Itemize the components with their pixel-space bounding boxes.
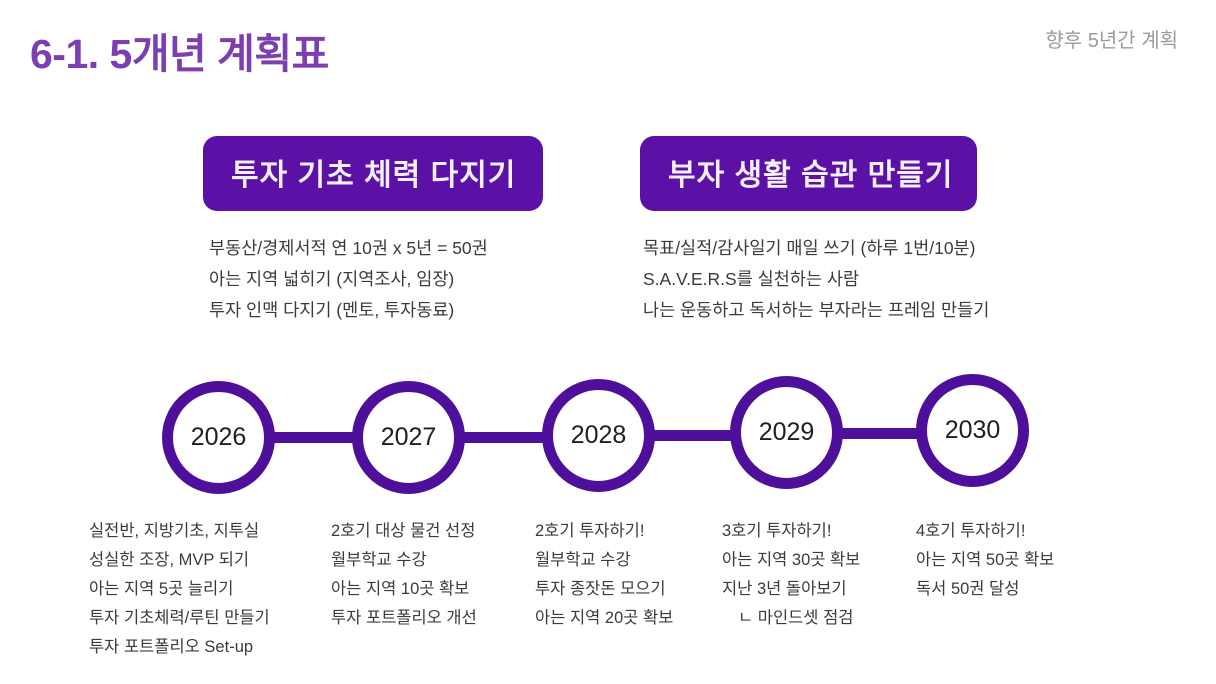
page-title: 6-1. 5개년 계획표 <box>30 20 329 80</box>
goal-line: 나는 운동하고 독서하는 부자라는 프레임 만들기 <box>643 295 989 326</box>
timeline-year-label: 2030 <box>945 416 1001 445</box>
year-task-line: 실전반, 지방기초, 지투실 <box>89 517 270 546</box>
year-task-line: 아는 지역 50곳 확보 <box>916 546 1054 575</box>
timeline-node-2030: 2030 <box>916 374 1029 487</box>
timeline-node-2028: 2028 <box>542 379 655 492</box>
goal-line: 아는 지역 넓히기 (지역조사, 임장) <box>209 264 543 295</box>
year-task-line: 2호기 대상 물건 선정 <box>331 517 477 546</box>
timeline-year-label: 2027 <box>381 423 437 452</box>
year-task-line: 지난 3년 돌아보기 <box>722 575 860 604</box>
year-task-line: 2호기 투자하기! <box>535 517 673 546</box>
year-column-2030: 4호기 투자하기! 아는 지역 50곳 확보 독서 50권 달성 <box>916 517 1054 604</box>
year-task-subline: ㄴ 마인드셋 점검 <box>722 604 860 633</box>
timeline: 2026 2027 2028 2029 2030 <box>0 370 1216 510</box>
goal-line: 목표/실적/감사일기 매일 쓰기 (하루 1번/10분) <box>643 233 989 264</box>
goal-block-investment-basics: 투자 기초 체력 다지기 부동산/경제서적 연 10권 x 5년 = 50권 아… <box>203 136 543 326</box>
timeline-year-label: 2026 <box>191 423 247 452</box>
year-task-line: 4호기 투자하기! <box>916 517 1054 546</box>
goal-line: 부동산/경제서적 연 10권 x 5년 = 50권 <box>209 233 543 264</box>
goal-block-rich-habits: 부자 생활 습관 만들기 목표/실적/감사일기 매일 쓰기 (하루 1번/10분… <box>640 136 989 326</box>
year-task-line: 성실한 조장, MVP 되기 <box>89 546 270 575</box>
year-task-line: 투자 기초체력/루틴 만들기 <box>89 604 270 633</box>
goal-lines-2: 목표/실적/감사일기 매일 쓰기 (하루 1번/10분) S.A.V.E.R.S… <box>640 233 989 326</box>
year-column-2028: 2호기 투자하기! 월부학교 수강 투자 종잣돈 모으기 아는 지역 20곳 확… <box>535 517 673 633</box>
goal-heading-pill-1: 투자 기초 체력 다지기 <box>203 136 543 211</box>
year-task-line: 독서 50권 달성 <box>916 575 1054 604</box>
timeline-node-2027: 2027 <box>352 381 465 494</box>
year-task-line: 월부학교 수강 <box>535 546 673 575</box>
timeline-node-2029: 2029 <box>730 376 843 489</box>
goal-heading-pill-2: 부자 생활 습관 만들기 <box>640 136 977 211</box>
timeline-year-label: 2028 <box>571 421 627 450</box>
year-task-line: 월부학교 수강 <box>331 546 477 575</box>
year-column-2026: 실전반, 지방기초, 지투실 성실한 조장, MVP 되기 아는 지역 5곳 늘… <box>89 517 270 662</box>
year-column-2027: 2호기 대상 물건 선정 월부학교 수강 아는 지역 10곳 확보 투자 포트폴… <box>331 517 477 633</box>
year-task-line: 아는 지역 30곳 확보 <box>722 546 860 575</box>
slide-subtitle: 향후 5년간 계획 <box>1045 24 1178 53</box>
year-task-line: 투자 포트폴리오 Set-up <box>89 633 270 662</box>
goal-line: 투자 인맥 다지기 (멘토, 투자동료) <box>209 295 543 326</box>
year-task-line: 투자 포트폴리오 개선 <box>331 604 477 633</box>
year-task-line: 3호기 투자하기! <box>722 517 860 546</box>
year-task-line: 아는 지역 20곳 확보 <box>535 604 673 633</box>
goal-line: S.A.V.E.R.S를 실천하는 사람 <box>643 264 989 295</box>
timeline-year-label: 2029 <box>759 418 815 447</box>
year-task-line: 아는 지역 5곳 늘리기 <box>89 575 270 604</box>
timeline-node-2026: 2026 <box>162 381 275 494</box>
year-column-2029: 3호기 투자하기! 아는 지역 30곳 확보 지난 3년 돌아보기 ㄴ 마인드셋… <box>722 517 860 633</box>
year-task-line: 아는 지역 10곳 확보 <box>331 575 477 604</box>
goal-lines-1: 부동산/경제서적 연 10권 x 5년 = 50권 아는 지역 넓히기 (지역조… <box>203 233 543 326</box>
year-task-line: 투자 종잣돈 모으기 <box>535 575 673 604</box>
